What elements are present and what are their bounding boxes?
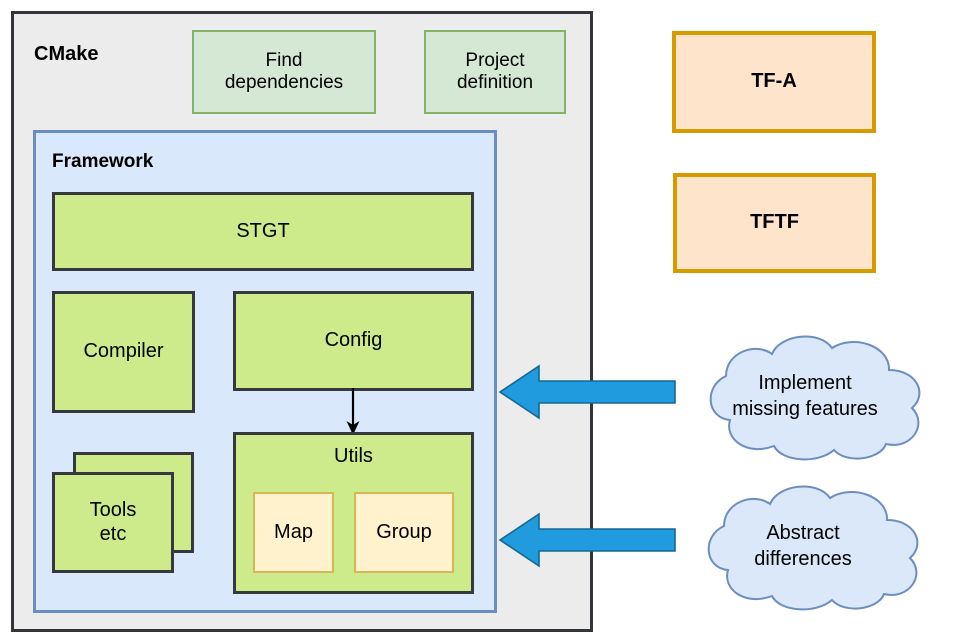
config-box[interactable]: Config <box>233 291 474 391</box>
config-label: Config <box>325 329 383 353</box>
left-arrow-implement-icon <box>497 361 677 423</box>
cmake-label: CMake <box>34 40 164 70</box>
config-to-utils-arrow-icon <box>338 388 368 436</box>
tf-a-box[interactable]: TF-A <box>672 31 876 133</box>
tools-etc-box[interactable]: Tools etc <box>52 472 174 573</box>
compiler-label: Compiler <box>83 340 163 364</box>
map-box[interactable]: Map <box>253 492 334 573</box>
find-dependencies-line2: dependencies <box>225 72 343 93</box>
find-dependencies-line1: Find <box>266 50 303 71</box>
tools-label-line1: Tools <box>90 499 137 523</box>
framework-label: Framework <box>52 148 232 176</box>
stgt-box[interactable]: STGT <box>52 192 474 271</box>
project-definition-line1: Project <box>465 50 524 71</box>
map-label: Map <box>274 521 313 545</box>
tftf-box[interactable]: TFTF <box>673 173 876 273</box>
cloud-shape-icon <box>672 478 934 614</box>
tftf-label: TFTF <box>750 211 799 235</box>
tf-a-label: TF-A <box>751 70 797 94</box>
find-dependencies-label: Find dependencies <box>225 50 343 95</box>
tools-label-line2: etc <box>100 523 127 547</box>
group-label: Group <box>376 521 432 545</box>
stgt-label: STGT <box>236 220 289 244</box>
left-arrow-abstract-icon <box>497 509 677 571</box>
cloud-callout-implement[interactable]: Implement missing features <box>674 328 936 464</box>
utils-label: Utils <box>236 445 471 469</box>
group-box[interactable]: Group <box>354 492 454 573</box>
compiler-box[interactable]: Compiler <box>52 291 195 413</box>
find-dependencies-box[interactable]: Find dependencies <box>192 30 376 114</box>
project-definition-line2: definition <box>457 72 533 93</box>
cloud-callout-abstract[interactable]: Abstract differences <box>672 478 934 614</box>
diagram-canvas: CMake Find dependencies Project definiti… <box>0 0 964 644</box>
project-definition-label: Project definition <box>457 50 533 95</box>
cloud-shape-icon <box>674 328 936 464</box>
project-definition-box[interactable]: Project definition <box>424 30 566 114</box>
